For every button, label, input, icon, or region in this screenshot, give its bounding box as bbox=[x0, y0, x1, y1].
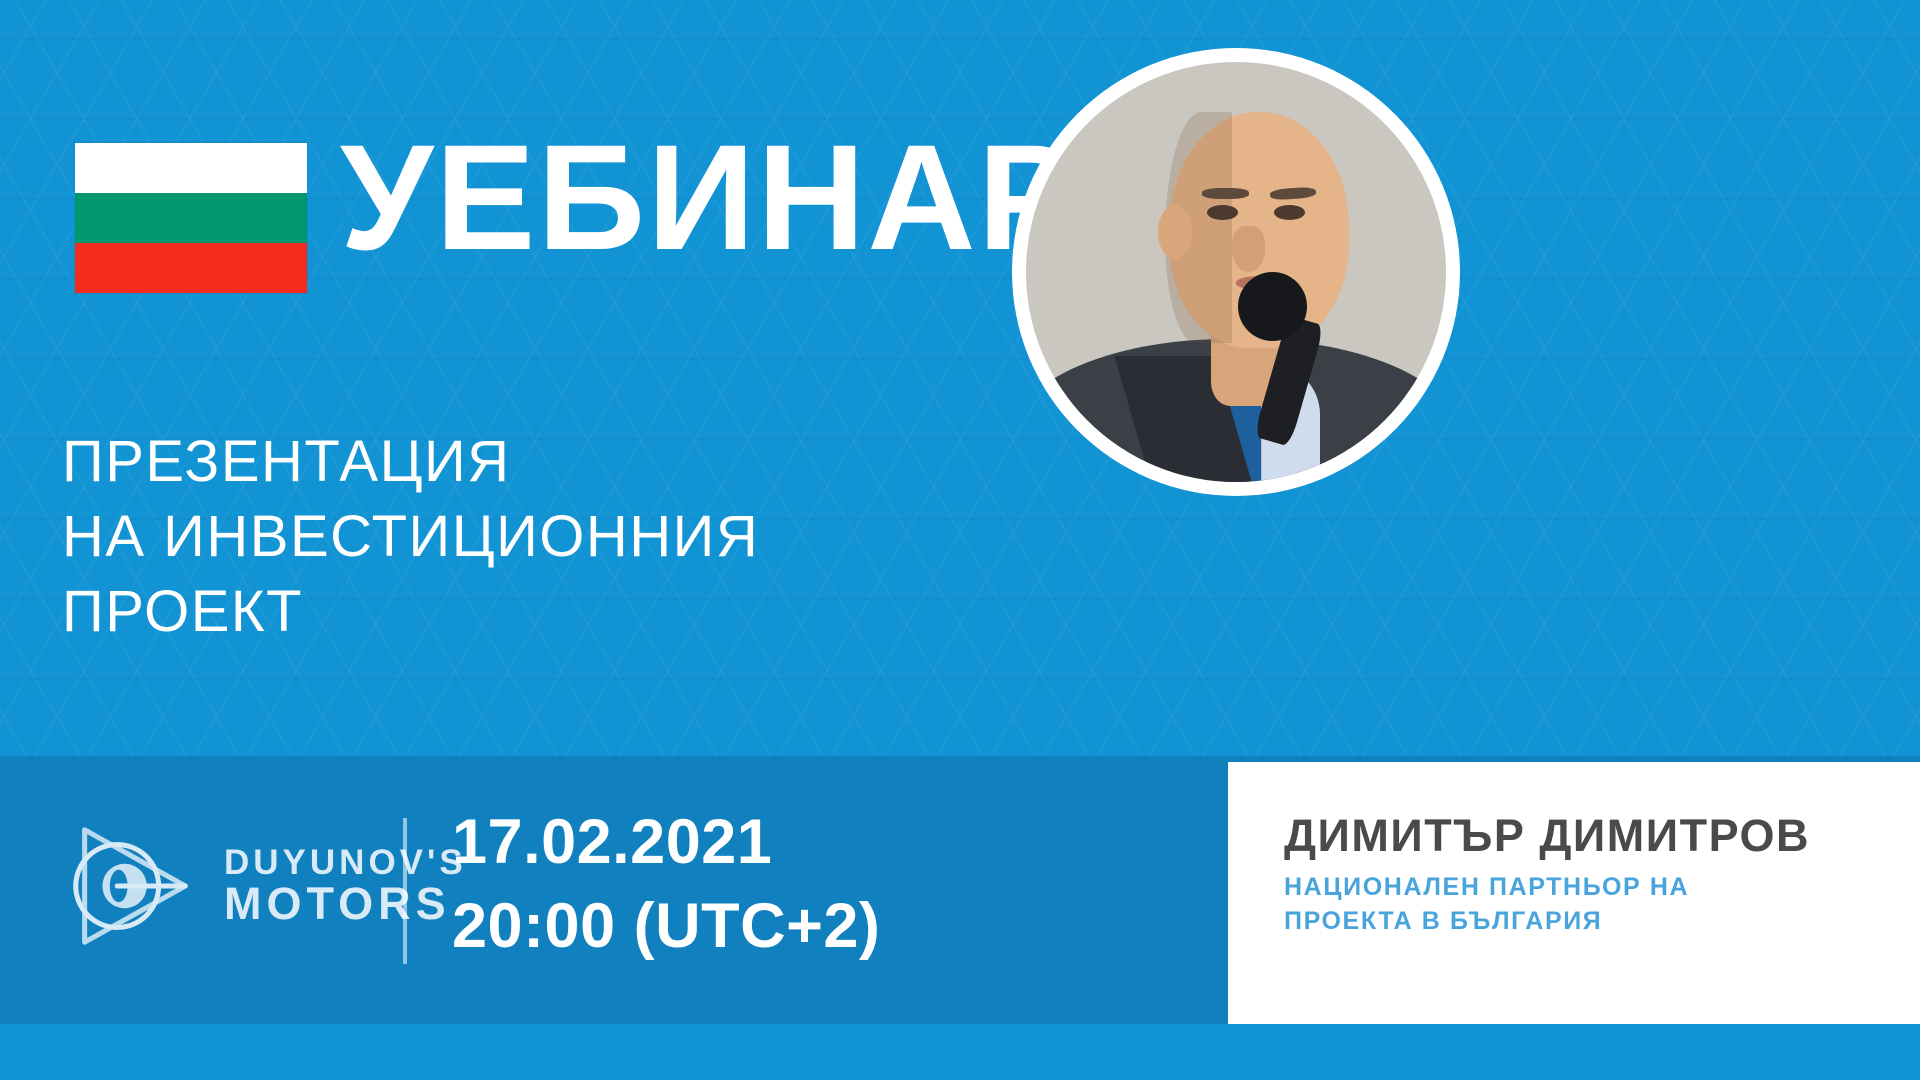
webinar-banner: УЕБИНАР ПРЕЗЕНТАЦИЯ НА ИНВЕСТИЦИОННИЯ ПР… bbox=[0, 0, 1920, 1080]
bottom-strip bbox=[0, 1024, 1920, 1080]
hero-section: УЕБИНАР ПРЕЗЕНТАЦИЯ НА ИНВЕСТИЦИОННИЯ ПР… bbox=[0, 0, 1920, 756]
speaker-role-line-1: НАЦИОНАЛЕН ПАРТНЬОР НА bbox=[1284, 870, 1689, 904]
subtitle-line-3: ПРОЕКТ bbox=[62, 574, 759, 649]
logo-word-top: DUYUNOV'S bbox=[224, 845, 467, 881]
speaker-role: НАЦИОНАЛЕН ПАРТНЬОР НА ПРОЕКТА В БЪЛГАРИ… bbox=[1284, 870, 1689, 938]
duyunov-emblem-icon bbox=[58, 812, 206, 960]
flag-stripe-green bbox=[75, 193, 307, 243]
subtitle-line-1: ПРЕЗЕНТАЦИЯ bbox=[62, 424, 759, 499]
headline-title: УЕБИНАР bbox=[340, 122, 1080, 272]
flag-stripe-red bbox=[75, 243, 307, 293]
speaker-info-panel: ДИМИТЪР ДИМИТРОВ НАЦИОНАЛЕН ПАРТНЬОР НА … bbox=[1228, 762, 1920, 1024]
event-time: 20:00 (UTC+2) bbox=[452, 884, 880, 968]
event-date: 17.02.2021 bbox=[452, 800, 880, 884]
nose-shape bbox=[1232, 226, 1266, 272]
subtitle-line-2: НА ИНВЕСТИЦИОННИЯ bbox=[62, 499, 759, 574]
eye-left bbox=[1207, 205, 1239, 220]
logo-word-bottom: MOTORS bbox=[224, 881, 467, 927]
logo-wordmark: DUYUNOV'S MOTORS bbox=[224, 845, 467, 927]
eyebrow-left bbox=[1202, 188, 1248, 199]
event-datetime: 17.02.2021 20:00 (UTC+2) bbox=[452, 800, 880, 968]
speaker-role-line-2: ПРОЕКТА В БЪЛГАРИЯ bbox=[1284, 904, 1689, 938]
bulgarian-flag-icon bbox=[75, 143, 307, 293]
subtitle-block: ПРЕЗЕНТАЦИЯ НА ИНВЕСТИЦИОННИЯ ПРОЕКТ bbox=[62, 424, 759, 649]
ear-shape bbox=[1158, 205, 1192, 260]
vertical-divider bbox=[403, 818, 407, 964]
portrait-photo bbox=[1026, 62, 1446, 482]
speaker-name: ДИМИТЪР ДИМИТРОВ bbox=[1284, 810, 1810, 862]
speaker-portrait-avatar bbox=[1012, 48, 1460, 496]
flag-stripe-white bbox=[75, 143, 307, 193]
eye-right bbox=[1274, 205, 1306, 220]
